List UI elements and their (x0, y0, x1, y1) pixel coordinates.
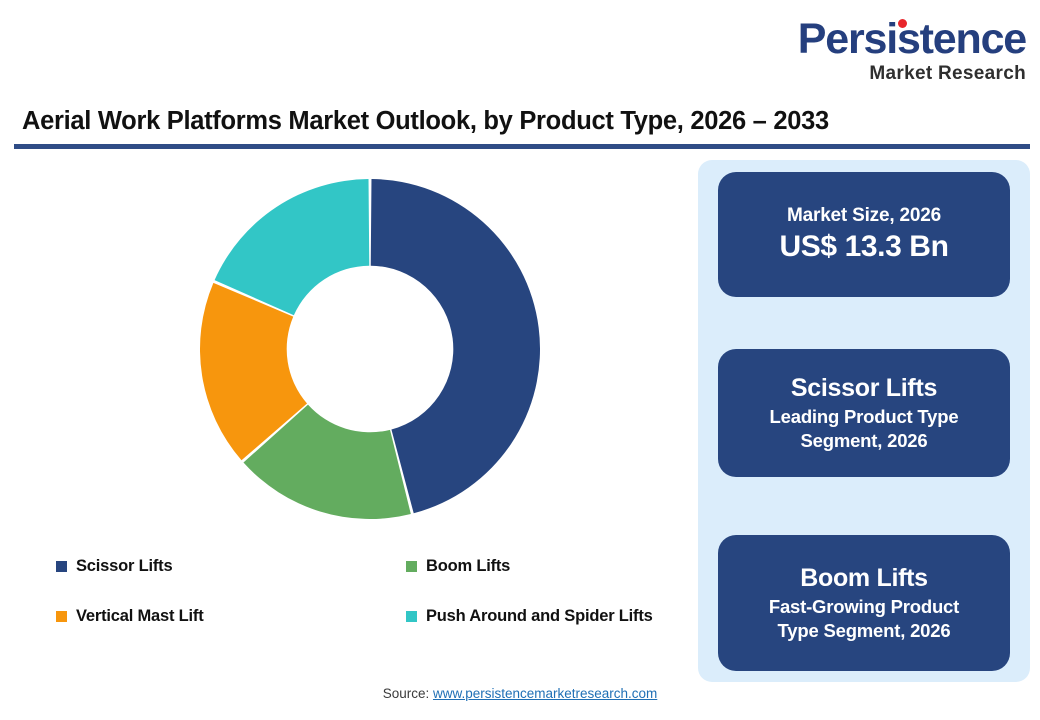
stat-card-market-size: Market Size, 2026 US$ 13.3 Bn (718, 172, 1010, 297)
brand-tagline: Market Research (798, 64, 1026, 83)
legend-item-push-around-and-spider-lifts: Push Around and Spider Lifts (406, 607, 653, 626)
legend-swatch-icon (406, 561, 417, 572)
logo-dot-icon (898, 19, 907, 28)
stat-card-value: US$ 13.3 Bn (779, 229, 948, 265)
stat-card-subtitle-line1: Fast-Growing Product (769, 595, 959, 619)
legend-swatch-icon (56, 611, 67, 622)
donut-chart-svg (200, 179, 540, 519)
stat-card-label: Market Size, 2026 (787, 204, 941, 228)
stat-card-fastest-growing-segment: Boom Lifts Fast-Growing Product Type Seg… (718, 535, 1010, 671)
source-prefix: Source: (383, 686, 433, 701)
chart-legend: Scissor Lifts Boom Lifts Vertical Mast L… (56, 557, 696, 657)
legend-swatch-icon (56, 561, 67, 572)
brand-name: Persistence (798, 18, 1026, 61)
infographic-page: Persistence Market Research Aerial Work … (0, 0, 1040, 720)
legend-row: Vertical Mast Lift Push Around and Spide… (56, 607, 696, 626)
stat-card-title: Boom Lifts (800, 563, 928, 593)
source-line: Source: www.persistencemarketresearch.co… (0, 686, 1040, 701)
donut-slices (200, 179, 540, 519)
stat-card-subtitle-line1: Leading Product Type (770, 405, 959, 429)
legend-item-label: Scissor Lifts (76, 557, 172, 576)
source-link[interactable]: www.persistencemarketresearch.com (433, 686, 657, 701)
donut-chart (200, 179, 540, 519)
legend-item-label: Push Around and Spider Lifts (426, 607, 653, 626)
legend-item-label: Vertical Mast Lift (76, 607, 204, 626)
page-title: Aerial Work Platforms Market Outlook, by… (22, 107, 829, 136)
legend-item-boom-lifts: Boom Lifts (406, 557, 510, 576)
legend-item-vertical-mast-lift: Vertical Mast Lift (56, 607, 406, 626)
legend-item-scissor-lifts: Scissor Lifts (56, 557, 406, 576)
legend-item-label: Boom Lifts (426, 557, 510, 576)
brand-name-text: Persistence (798, 15, 1026, 63)
stat-card-leading-segment: Scissor Lifts Leading Product Type Segme… (718, 349, 1010, 477)
stat-card-subtitle-line2: Segment, 2026 (801, 429, 928, 453)
title-divider (14, 144, 1030, 149)
stats-panel: Market Size, 2026 US$ 13.3 Bn Scissor Li… (698, 160, 1030, 682)
brand-logo: Persistence Market Research (798, 18, 1026, 83)
stat-card-title: Scissor Lifts (791, 373, 937, 403)
chart-area: Scissor Lifts Boom Lifts Vertical Mast L… (0, 152, 690, 652)
legend-swatch-icon (406, 611, 417, 622)
stat-card-subtitle-line2: Type Segment, 2026 (778, 619, 951, 643)
legend-row: Scissor Lifts Boom Lifts (56, 557, 696, 576)
